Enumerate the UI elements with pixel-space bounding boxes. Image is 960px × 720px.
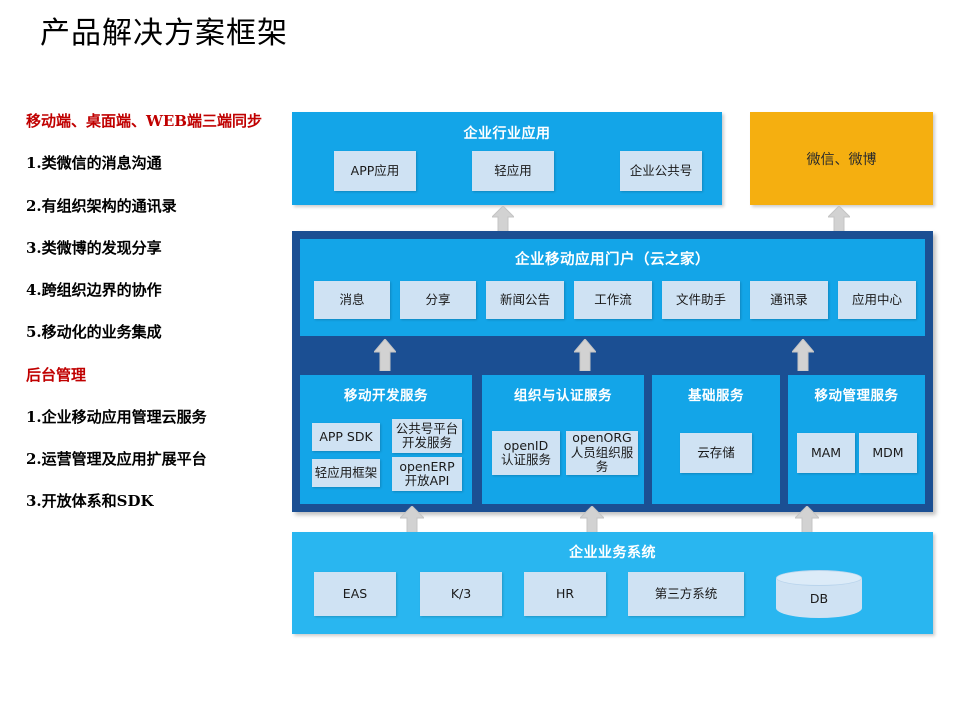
- list-item: 3.类微博的发现分享: [26, 240, 296, 257]
- arrow-up-to-social: [828, 206, 850, 232]
- chip-public-platform[interactable]: 公共号平台开发服务: [392, 419, 462, 453]
- chip-workflow[interactable]: 工作流: [574, 281, 652, 319]
- service-title-basic: 基础服务: [652, 384, 780, 404]
- chip-third-party[interactable]: 第三方系统: [628, 572, 744, 616]
- slide-canvas: 产品解决方案框架 移动端、桌面端、WEB端三端同步 1.类微信的消息沟通 2.有…: [0, 0, 960, 720]
- industry-applications-title: 企业行业应用: [292, 123, 722, 143]
- chip-openid[interactable]: openID认证服务: [492, 431, 560, 475]
- database-label: DB: [776, 570, 862, 618]
- list-item: 后台管理: [26, 367, 296, 384]
- list-item: 2.有组织架构的通讯录: [26, 198, 296, 215]
- list-item: 4.跨组织边界的协作: [26, 282, 296, 299]
- enterprise-portal-panel: 企业移动应用门户（云之家） 消息 分享 新闻公告 工作流 文件助手 通讯录 应用…: [300, 239, 925, 336]
- chip-light-application[interactable]: 轻应用: [472, 151, 554, 191]
- chip-file-helper[interactable]: 文件助手: [662, 281, 740, 319]
- list-item: 2.运营管理及应用扩展平台: [26, 451, 296, 468]
- service-panel-mobile-management: 移动管理服务 MAM MDM: [788, 375, 925, 504]
- feature-list: 移动端、桌面端、WEB端三端同步 1.类微信的消息沟通 2.有组织架构的通讯录 …: [26, 113, 296, 536]
- social-channels-label: 微信、微博: [807, 149, 877, 169]
- arrow-up-to-industry: [492, 206, 514, 232]
- chip-public-account[interactable]: 企业公共号: [620, 151, 702, 191]
- list-item: 3.开放体系和SDK: [26, 493, 296, 510]
- chip-mdm[interactable]: MDM: [859, 433, 917, 473]
- industry-applications-panel: 企业行业应用 APP应用 轻应用 企业公共号: [292, 112, 722, 205]
- business-systems-panel: 企业业务系统 EAS K/3 HR 第三方系统 DB: [292, 532, 933, 634]
- list-item: 1.类微信的消息沟通: [26, 155, 296, 172]
- arrow-up-business-center: [580, 506, 604, 534]
- chip-cloud-storage[interactable]: 云存储: [680, 433, 752, 473]
- chip-news[interactable]: 新闻公告: [486, 281, 564, 319]
- service-panel-org-auth: 组织与认证服务 openID认证服务 openORG人员组织服务: [482, 375, 644, 504]
- service-panel-mobile-development: 移动开发服务 APP SDK 公共号平台开发服务 轻应用框架 openERP开放…: [300, 375, 472, 504]
- arrow-up-auth-services: [574, 339, 596, 371]
- page-title: 产品解决方案框架: [40, 8, 288, 52]
- chip-contacts[interactable]: 通讯录: [750, 281, 828, 319]
- chip-app-sdk[interactable]: APP SDK: [312, 423, 380, 451]
- chip-message[interactable]: 消息: [314, 281, 390, 319]
- service-title-mobile-development: 移动开发服务: [300, 384, 472, 404]
- chip-mam[interactable]: MAM: [797, 433, 855, 473]
- service-title-org-auth: 组织与认证服务: [482, 384, 644, 404]
- business-systems-title: 企业业务系统: [292, 542, 933, 562]
- chip-app-center[interactable]: 应用中心: [838, 281, 916, 319]
- enterprise-portal-title: 企业移动应用门户（云之家）: [300, 248, 925, 269]
- chip-openorg[interactable]: openORG人员组织服务: [566, 431, 638, 475]
- chip-share[interactable]: 分享: [400, 281, 476, 319]
- list-item: 5.移动化的业务集成: [26, 324, 296, 341]
- service-panel-basic: 基础服务 云存储: [652, 375, 780, 504]
- chip-hr[interactable]: HR: [524, 572, 606, 616]
- chip-app-application[interactable]: APP应用: [334, 151, 416, 191]
- arrow-up-business-left: [400, 506, 424, 534]
- chip-k3[interactable]: K/3: [420, 572, 502, 616]
- list-item: 1.企业移动应用管理云服务: [26, 409, 296, 426]
- database-cylinder[interactable]: DB: [776, 570, 862, 618]
- list-item: 移动端、桌面端、WEB端三端同步: [26, 113, 296, 130]
- social-channels-panel: 微信、微博: [750, 112, 933, 205]
- service-title-mobile-management: 移动管理服务: [788, 384, 925, 404]
- chip-eas[interactable]: EAS: [314, 572, 396, 616]
- arrow-up-mgmt-services: [792, 339, 814, 371]
- arrow-up-dev-services: [374, 339, 396, 371]
- arrow-up-business-right: [795, 506, 819, 534]
- chip-light-app-frame[interactable]: 轻应用框架: [312, 459, 380, 487]
- mobile-platform-container: 企业移动应用门户（云之家） 消息 分享 新闻公告 工作流 文件助手 通讯录 应用…: [292, 231, 933, 512]
- chip-openerp-api[interactable]: openERP开放API: [392, 457, 462, 491]
